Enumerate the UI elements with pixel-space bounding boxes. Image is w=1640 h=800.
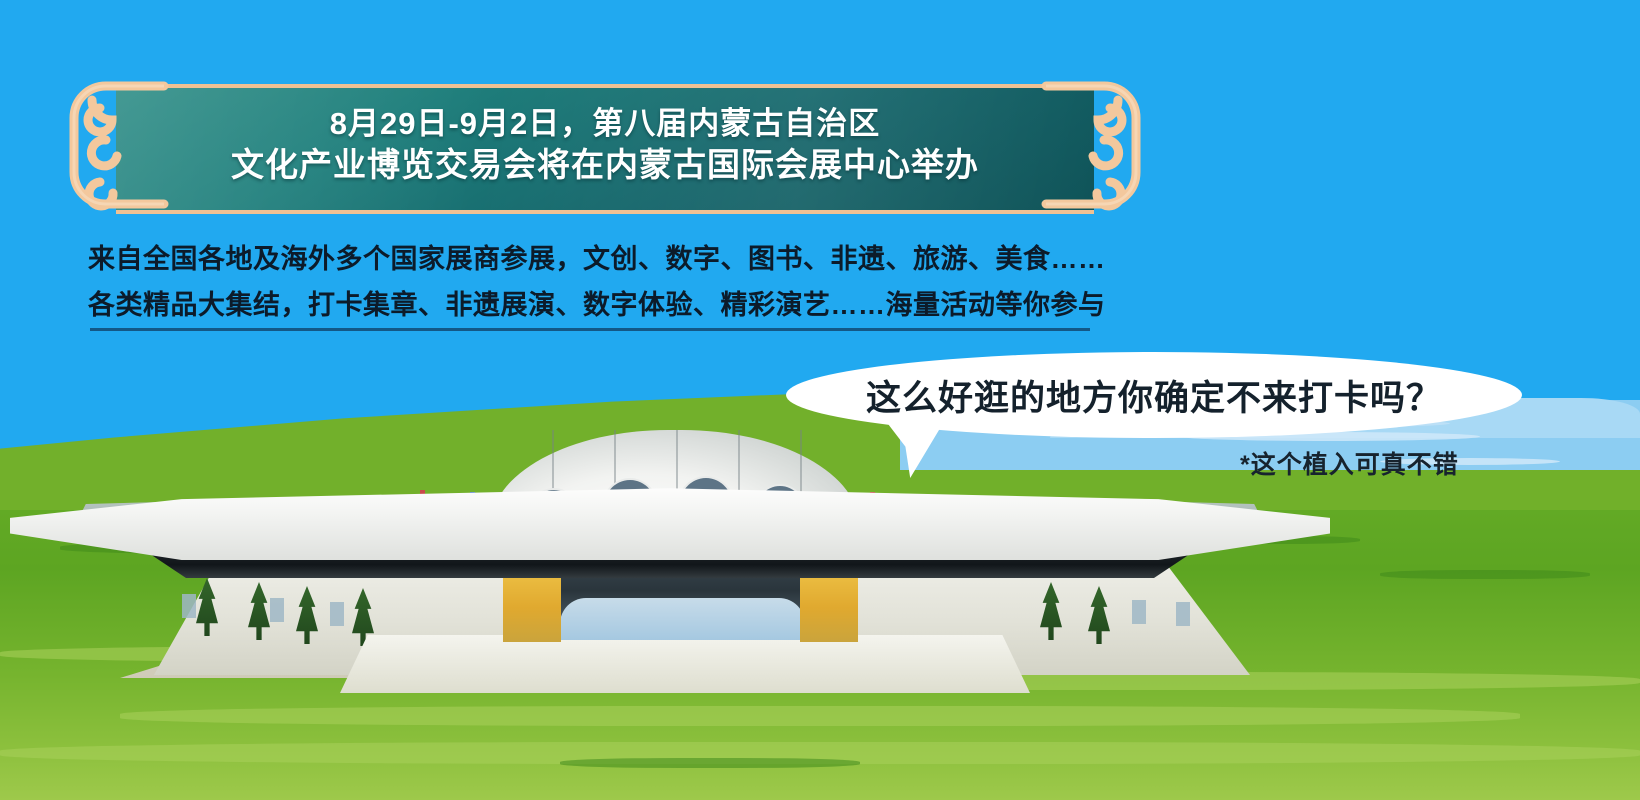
podium-window	[330, 602, 344, 626]
podium-window	[270, 598, 284, 622]
building-roof-wing	[10, 482, 1330, 560]
building-base-plinth	[340, 635, 1030, 693]
body-copy-line-1: 来自全国各地及海外多个国家展商参展，文创、数字、图书、非遗、旅游、美食……	[88, 236, 1098, 282]
body-copy-block: 来自全国各地及海外多个国家展商参展，文创、数字、图书、非遗、旅游、美食…… 各类…	[88, 236, 1098, 328]
grass-streak	[560, 758, 860, 768]
speech-bubble-text: 这么好逛的地方你确定不来打卡吗？	[786, 352, 1522, 438]
plaque-title-line-2: 文化产业博览交易会将在内蒙古国际会展中心举办	[231, 144, 979, 186]
atrium-light-panel	[560, 598, 805, 640]
grass-streak	[1380, 570, 1590, 579]
title-plaque: 8月29日-9月2日，第八届内蒙古自治区 文化产业博览交易会将在内蒙古国际会展中…	[76, 84, 1134, 206]
convention-center-illustration	[0, 430, 1340, 690]
podium-window	[1132, 600, 1146, 624]
body-copy-line-2: 各类精品大集结，打卡集章、非遗展演、数字体验、精彩演艺……海量活动等你参与	[88, 282, 1098, 328]
podium-window	[182, 594, 196, 618]
footnote-text: *这个植入可真不错	[1240, 445, 1459, 481]
podium-window	[1176, 602, 1190, 626]
poster-canvas: 8月29日-9月2日，第八届内蒙古自治区 文化产业博览交易会将在内蒙古国际会展中…	[0, 0, 1640, 800]
horizontal-divider	[90, 328, 1090, 331]
plaque-text-block: 8月29日-9月2日，第八届内蒙古自治区 文化产业博览交易会将在内蒙古国际会展中…	[116, 84, 1094, 206]
plaque-title-line-1: 8月29日-9月2日，第八届内蒙古自治区	[330, 104, 881, 144]
grass-highlight	[120, 706, 1520, 726]
